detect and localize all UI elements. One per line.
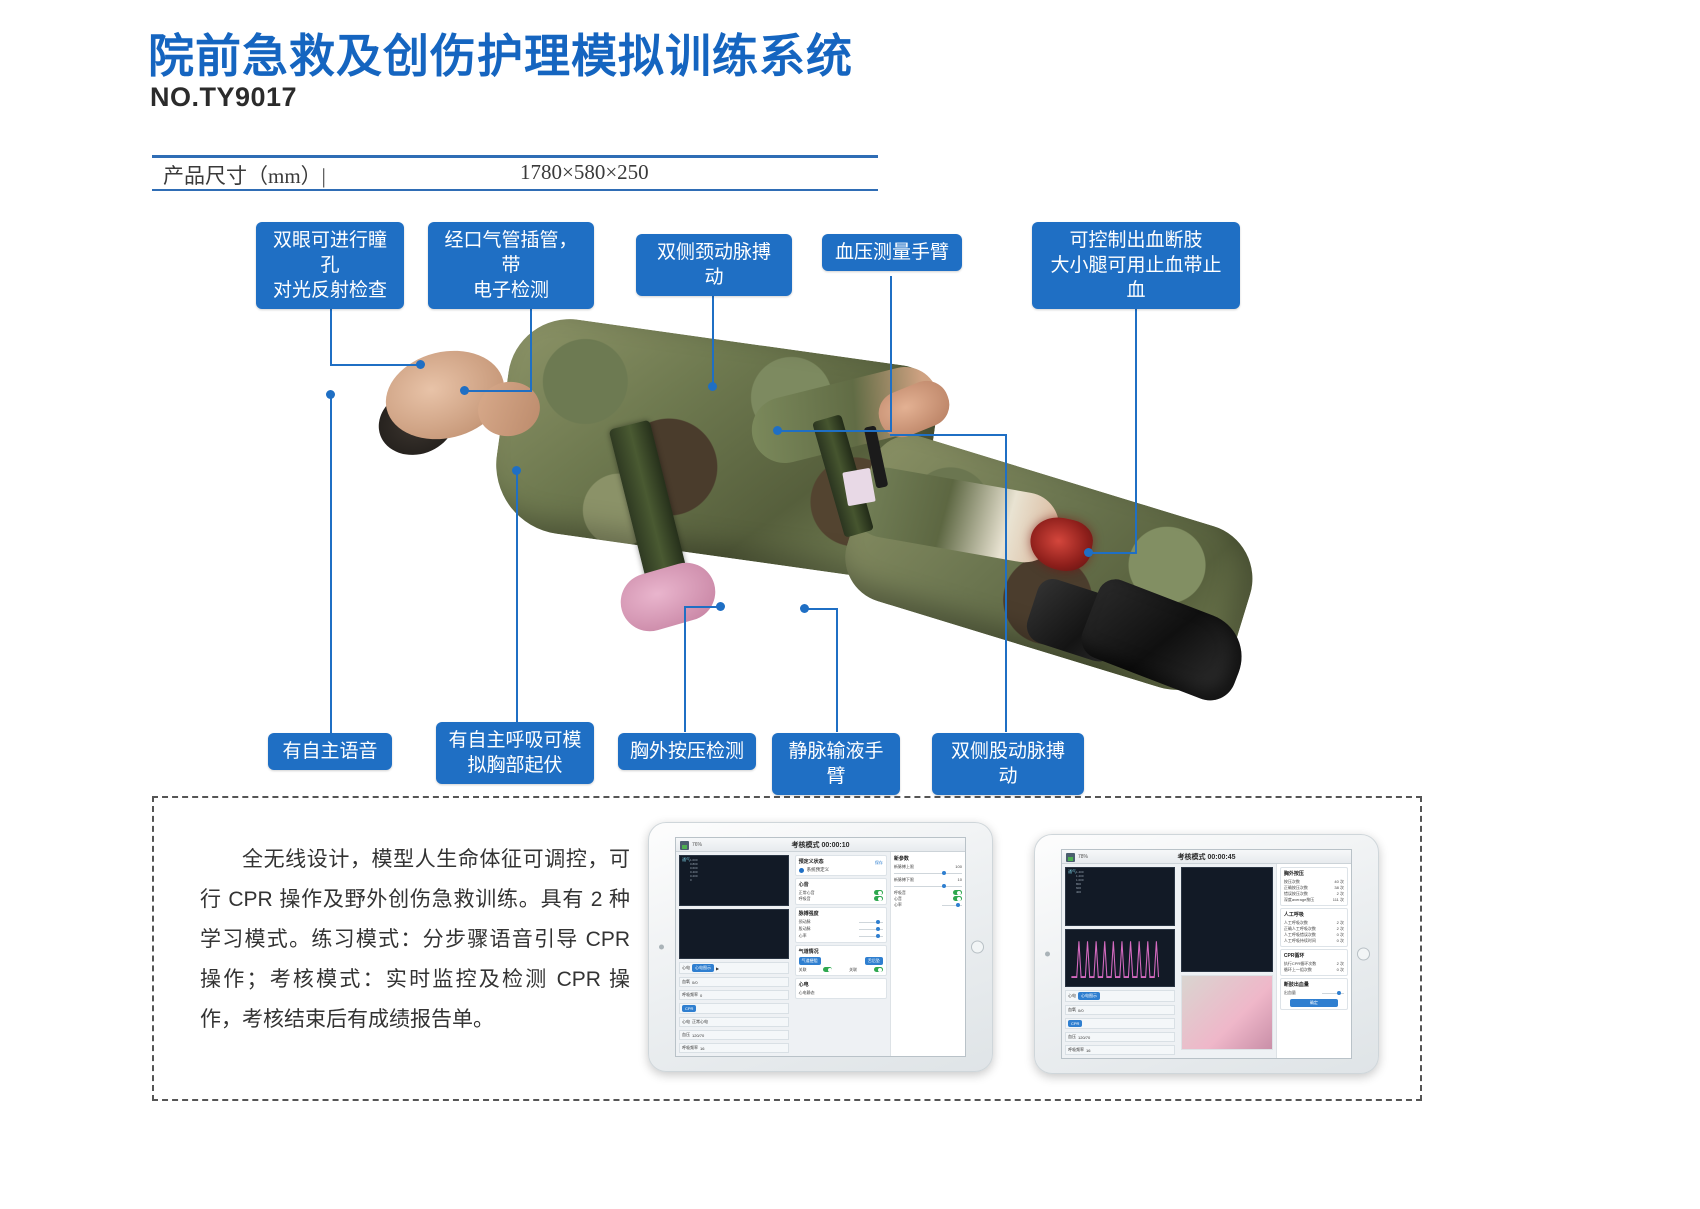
predefined-state-card: 预定义状态 保存 系统预定义 [795, 855, 887, 876]
battery-icon [1066, 853, 1075, 862]
predefined-state-panel: 预定义状态 保存 系统预定义 心音 正常心音 呼吸音 [792, 852, 890, 1056]
pulse-row-3: 心率 [799, 933, 883, 940]
ctl-bp[interactable]: 血压 120/70 [1065, 1032, 1175, 1042]
row-label: 心电静态 [799, 990, 815, 996]
limb-photo [1181, 975, 1273, 1050]
radio-selected-icon[interactable] [799, 868, 804, 873]
ecg-trace-icon [1066, 930, 1174, 987]
ctl-ecg-label: 心电 [682, 965, 690, 971]
chest-compression-title: 胸外按压 [1284, 870, 1344, 877]
row-label: 心率 [799, 933, 807, 940]
pulse-row-1: 颈动脉 [799, 919, 883, 926]
row-label: 颈动脉 [799, 919, 811, 926]
cc-row-4: 深度average按压111 次 [1284, 897, 1344, 903]
ctl-rr-value: 16 [700, 1046, 704, 1051]
tablet-body: 通气 1.4001.2001.000800600400 心电 心电图示 血氧 [1062, 864, 1351, 1058]
callout-chest-compression[interactable]: 胸外按压检测 [618, 733, 756, 770]
slider[interactable] [859, 929, 883, 930]
ventilation-wave: 通气 1.0000.8000.6000.4000.2000 [679, 855, 789, 906]
slider[interactable] [859, 936, 883, 937]
ctl-ecg-value[interactable]: 心电图示 [692, 964, 714, 972]
rb-row-4: 人工呼吸持续时间0 次 [1284, 938, 1344, 944]
opt-row-3: 心率 [894, 902, 962, 909]
row-label: 呼吸音 [799, 896, 811, 902]
param-label: 新脉搏上限 [894, 864, 914, 870]
ecg-card: 心电 心电静态 [795, 978, 887, 999]
tablet-home-button[interactable] [971, 941, 984, 954]
callout-bp-arm[interactable]: 血压测量手臂 [822, 234, 962, 271]
bv-row-1: 出血量 [1284, 990, 1344, 997]
page-title: 院前急救及创伤护理模拟训练系统 [148, 20, 853, 86]
spec-rule-bottom [152, 189, 878, 191]
anchor-dot-carotid [708, 382, 717, 391]
ctl-spo2-value: 0/0 [1078, 1008, 1084, 1013]
leader-line-bleed-v [1135, 282, 1137, 554]
battery-pct: 78% [1078, 854, 1088, 860]
ecg-wave-secondary [1181, 867, 1273, 972]
leader-line-breath-v [516, 470, 518, 732]
row-label: 循环上一组次数 [1284, 967, 1312, 973]
callout-femoral-pulse[interactable]: 双侧股动脉搏动 [932, 733, 1084, 795]
ctl-ecg-normal-label: 心电 [682, 1019, 690, 1025]
ctl-ecg[interactable]: 心电 心电图示 ▶ [679, 962, 789, 974]
leader-line-femoral-h [890, 434, 1007, 436]
leader-line-bp-v [890, 276, 892, 431]
tablet-screen[interactable]: 76% 考核模式 00:00:10 通气 1.0000.8000.6000.40… [675, 837, 966, 1057]
param-value: 10 [958, 877, 962, 883]
ecg-row-1: 心电静态 [799, 990, 883, 996]
callout-pupil-reflex[interactable]: 双眼可进行瞳孔 对光反射检查 [256, 222, 404, 309]
pulse-title: 脉搏强度 [799, 910, 883, 917]
leader-line-bleed-h [1090, 552, 1137, 554]
leader-line-iv-v [836, 608, 838, 732]
brochure-page: 院前急救及创伤护理模拟训练系统 NO.TY9017 产品尺寸（mm）| 1780… [0, 0, 1700, 1209]
airway-toggle-row: 关联 关联 [799, 967, 883, 973]
mode-timer: 考核模式 00:00:10 [792, 840, 850, 850]
manikin-left-hand [614, 556, 722, 638]
ecg-wave [679, 909, 789, 960]
wave-label: 通气 [1068, 869, 1076, 875]
ctl-ecg-label: 心电 [1068, 993, 1076, 999]
callout-carotid-pulse[interactable]: 双侧颈动脉搏动 [636, 234, 792, 296]
anchor-dot-breath [512, 466, 521, 475]
confirm-button[interactable]: 确定 [1290, 999, 1338, 1007]
toggle-icon[interactable] [874, 967, 883, 972]
ctl-spo2[interactable]: 血氧 0/0 [679, 977, 789, 987]
ecg-wave [1065, 929, 1175, 988]
tablet-status-bar: 78% 考核模式 00:00:45 [1062, 850, 1351, 864]
ctl-rr-label: 呼吸频率 [682, 1045, 698, 1051]
heart-sound-card: 心音 正常心音 呼吸音 [795, 878, 887, 905]
ctl-bp-value: 120/70 [692, 1033, 704, 1038]
ctl-spo2-label: 血氧 [1068, 1007, 1076, 1013]
toggle-icon[interactable] [953, 890, 962, 895]
leader-line-bp-h [778, 430, 892, 432]
param-row-upper: 新脉搏上限 100 [894, 864, 962, 870]
slider[interactable] [942, 905, 962, 906]
row-label: 人工呼吸持续时间 [1284, 938, 1316, 944]
param-label: 新脉搏下限 [894, 877, 914, 883]
ctl-rr[interactable]: 呼吸频率 16 [1065, 1045, 1175, 1055]
airway-obstruction-button[interactable]: 气道梗阻 [799, 957, 821, 965]
toggle-icon[interactable] [874, 896, 883, 901]
ctl-rr-label: 呼吸频率 [1068, 1047, 1084, 1053]
cpr-report-panel: 胸外按压 按压次数40 次 正确按压次数38 次 错误按压次数2 次 深度ave… [1276, 864, 1351, 1058]
manikin-triage-tag [842, 468, 875, 506]
leader-line-iv-h [804, 608, 838, 610]
row-label: 出血量 [1284, 990, 1296, 997]
ctl-ecg-value[interactable]: 心电图示 [1078, 992, 1100, 1000]
tablet-camera-icon [1045, 952, 1050, 957]
mode-timer: 考核模式 00:00:45 [1178, 852, 1236, 862]
anchor-dot-pupil [416, 360, 425, 369]
ctl-resp-value: 0 [700, 993, 702, 998]
slider[interactable] [859, 922, 883, 923]
leader-line-intubation-h [465, 390, 531, 392]
row-label: 深度average按压 [1284, 897, 1314, 903]
play-icon[interactable]: ▶ [716, 966, 719, 971]
chest-compression-card: 胸外按压 按压次数40 次 正确按压次数38 次 错误按压次数2 次 深度ave… [1280, 867, 1348, 906]
airway-title: 气道情况 [799, 948, 883, 955]
monitor-left-panel: 通气 1.0000.8000.6000.4000.2000 心电 心电图示 ▶ … [676, 852, 792, 1056]
param-slider-lower[interactable] [894, 886, 962, 887]
airway-row: 气道梗阻 舌后坠 [799, 957, 883, 965]
cpr-cycle-card: CPR循环 执行CPR循环次数2 次 循环上一组次数0 次 [1280, 949, 1348, 976]
callout-spontaneous-breathing[interactable]: 有自主呼吸可模 拟胸部起伏 [436, 722, 594, 784]
rescue-breathing-card: 人工呼吸 人工呼吸次数2 次 正确人工呼吸次数2 次 人工呼吸错误次数0 次 人… [1280, 908, 1348, 947]
save-link[interactable]: 保存 [875, 860, 883, 866]
wave-label: 通气 [682, 857, 690, 863]
cpr-button[interactable]: CPR [682, 1005, 696, 1012]
toggle-icon[interactable] [953, 896, 962, 901]
ctl-bp-value: 120/70 [1078, 1035, 1090, 1040]
leader-line-voice-v [330, 394, 332, 734]
row-label: 股动脉 [799, 926, 811, 933]
airway-card: 气道情况 气道梗阻 舌后坠 关联 关联 [795, 945, 887, 976]
anchor-dot-iv [800, 604, 809, 613]
anchor-dot-compression [716, 602, 725, 611]
bleeding-volume-title: 断肢出血量 [1284, 981, 1344, 988]
ctl-rr[interactable]: 呼吸频率 16 [679, 1043, 789, 1053]
predefined-title: 预定义状态 [799, 858, 824, 865]
tablet-camera-icon [659, 945, 664, 950]
spec-rule-top [152, 155, 878, 158]
ctl-cpr[interactable]: CPR [1065, 1018, 1175, 1029]
manikin-photo [330, 330, 1310, 720]
ctl-ecg-normal-value: 正常心电 [692, 1019, 708, 1025]
link-label-2: 关联 [849, 967, 857, 973]
toggle-icon[interactable] [874, 890, 883, 895]
wave-scale: 1.4001.2001.000800600400 [1076, 870, 1084, 894]
tablet-home-button[interactable] [1357, 948, 1370, 961]
ctl-cpr[interactable]: CPR [679, 1003, 789, 1014]
cyc-row-2: 循环上一组次数0 次 [1284, 967, 1344, 973]
heart-sound-row-2: 呼吸音 [799, 896, 883, 902]
ctl-spo2-value: 0/0 [692, 980, 698, 985]
description-paragraph: 全无线设计，模型人生命体征可调控，可行 CPR 操作及野外创伤急救训练。具有 2… [200, 840, 630, 1040]
anchor-dot-bp [773, 426, 782, 435]
wave-scale: 1.0000.8000.6000.4000.2000 [690, 858, 698, 882]
pulse-strength-card: 脉搏强度 颈动脉 股动脉 心率 [795, 907, 887, 943]
ventilation-wave: 通气 1.4001.2001.000800600400 [1065, 867, 1175, 926]
callout-intubation[interactable]: 经口气管插管，带 电子检测 [428, 222, 594, 309]
anchor-dot-intubation [460, 386, 469, 395]
callout-bleeding-limb[interactable]: 可控制出血断肢 大小腿可用止血带止血 [1032, 222, 1240, 309]
ctl-resp[interactable]: 呼吸频率 0 [679, 990, 789, 1000]
ecg-title: 心电 [799, 981, 883, 988]
leader-line-femoral-v [1005, 434, 1007, 732]
leader-line-compression-h [684, 606, 720, 608]
ctl-bp[interactable]: 血压 120/70 [679, 1030, 789, 1040]
leader-line-pupil-h [330, 364, 420, 366]
tablet-body: 通气 1.0000.8000.6000.4000.2000 心电 心电图示 ▶ … [676, 852, 965, 1056]
ctl-bp-label: 血压 [682, 1032, 690, 1038]
ctl-resp-label: 呼吸频率 [682, 992, 698, 998]
tablet-assessment-state[interactable]: 76% 考核模式 00:00:10 通气 1.0000.8000.6000.40… [648, 822, 993, 1072]
cpr-cycle-title: CPR循环 [1284, 952, 1344, 959]
rescue-breathing-title: 人工呼吸 [1284, 911, 1344, 918]
row-value: 0 次 [1337, 938, 1344, 944]
callout-autonomous-voice[interactable]: 有自主语音 [268, 733, 392, 770]
option-label: 心率 [894, 902, 902, 909]
param-slider-upper[interactable] [894, 873, 962, 874]
param-row-lower: 新脉搏下限 10 [894, 877, 962, 883]
tablet-screen[interactable]: 78% 考核模式 00:00:45 通气 1.4001.2001.0008006… [1061, 849, 1352, 1059]
callout-iv-arm[interactable]: 静脉输液手臂 [772, 733, 900, 795]
model-number: NO.TY9017 [150, 82, 297, 113]
predefined-selected: 系统预定义 [807, 867, 830, 873]
tablet-cpr-report[interactable]: 78% 考核模式 00:00:45 通气 1.4001.2001.0008006… [1034, 834, 1379, 1074]
battery-pct: 76% [692, 842, 702, 848]
new-params-title: 新参数 [894, 855, 962, 862]
tongue-fallback-button[interactable]: 舌后坠 [865, 957, 883, 965]
new-params-panel: 新参数 新脉搏上限 100 新脉搏下限 10 呼吸音 心音 心率 [890, 852, 965, 1056]
pulse-row-2: 股动脉 [799, 926, 883, 933]
param-value: 100 [955, 864, 962, 870]
dimension-label: 产品尺寸（mm）| [163, 160, 326, 190]
limb-photo-panel [1178, 864, 1276, 1058]
link-label-1: 关联 [799, 967, 807, 973]
ctl-ecg[interactable]: 心电 心电图示 [1065, 990, 1175, 1002]
row-value: 0 次 [1337, 967, 1344, 973]
ctl-bp-label: 血压 [1068, 1034, 1076, 1040]
dimension-value: 1780×580×250 [520, 160, 649, 185]
ctl-spo2-label: 血氧 [682, 979, 690, 985]
row-value: 111 次 [1333, 897, 1344, 903]
ctl-spo2[interactable]: 血氧 0/0 [1065, 1005, 1175, 1015]
anchor-dot-voice [326, 390, 335, 399]
tablet-status-bar: 76% 考核模式 00:00:10 [676, 838, 965, 852]
leader-line-compression-v [684, 606, 686, 732]
ctl-rr-value: 16 [1086, 1048, 1090, 1053]
cpr-button[interactable]: CPR [1068, 1020, 1082, 1027]
bleeding-volume-card: 断肢出血量 出血量 确定 [1280, 978, 1348, 1010]
anchor-dot-bleed [1084, 548, 1093, 557]
monitor-left-panel: 通气 1.4001.2001.000800600400 心电 心电图示 血氧 [1062, 864, 1178, 1058]
battery-icon [680, 841, 689, 850]
ctl-ecg-normal[interactable]: 心电 正常心电 [679, 1017, 789, 1027]
toggle-icon[interactable] [823, 967, 832, 972]
heart-sound-title: 心音 [799, 881, 883, 888]
slider[interactable] [1322, 993, 1344, 994]
